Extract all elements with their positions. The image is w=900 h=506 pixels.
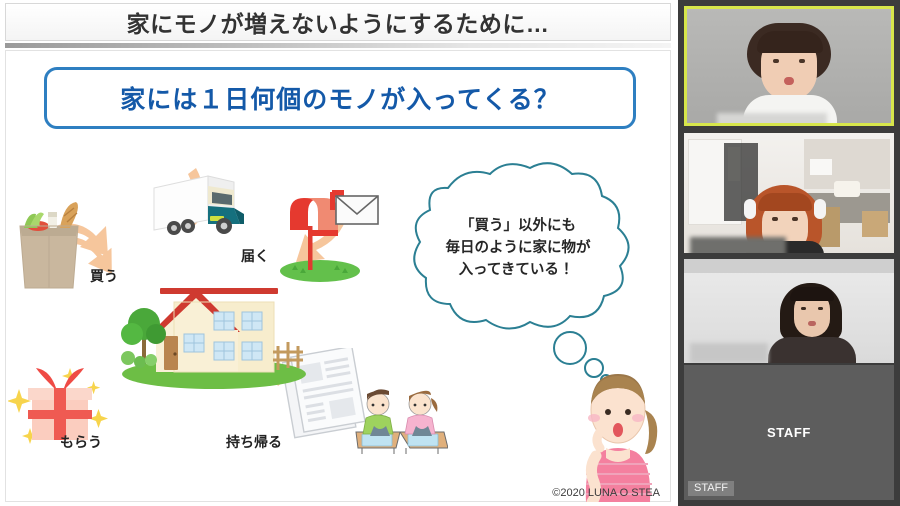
question-box: 家には１日何個のモノが入ってくる？ <box>44 67 636 129</box>
participant-tile-4-label: STAFF <box>688 481 734 496</box>
label-bring-home: 持ち帰る <box>226 432 282 452</box>
participant-tile-3[interactable] <box>684 259 894 363</box>
cloud-text-line-2: 毎日のように家に物が <box>382 237 654 259</box>
label-receive: もらう <box>60 432 102 452</box>
slide-title-text: 家にモノが増えないようにするために… <box>127 5 550 39</box>
title-divider <box>5 43 671 48</box>
participant-video-strip: STAFF STAFF <box>678 0 900 506</box>
school-kids-icon <box>352 386 448 454</box>
cloud-text-line-3: 入ってきている ！ <box>382 259 654 281</box>
shared-slide[interactable]: 家にモノが増えないようにするために… 家には１日何個のモノが入ってくる？ <box>0 0 678 506</box>
copyright-notice: ©2020 LUNA O STEA <box>0 487 668 499</box>
participant-tile-4[interactable]: STAFF STAFF <box>684 365 894 500</box>
delivery-truck-icon <box>148 168 260 248</box>
thinking-woman-icon <box>566 356 670 502</box>
meeting-screen: 家にモノが増えないようにするために… 家には１日何個のモノが入ってくる？ <box>0 0 900 506</box>
grocery-bag-icon <box>10 196 88 292</box>
house-icon <box>118 272 308 390</box>
participant-tile-2[interactable] <box>684 133 894 253</box>
cloud-text-line-1: 「買う」以外にも <box>382 215 654 237</box>
participant-tile-1[interactable] <box>684 6 894 126</box>
mailbox-icon <box>276 178 382 286</box>
label-delivered: 届く <box>241 246 269 266</box>
cloud-text: 「買う」以外にも 毎日のように家に物が 入ってきている ！ <box>382 215 654 281</box>
participant-tile-4-center-name: STAFF <box>684 425 894 440</box>
question-box-text: 家には１日何個のモノが入ってくる？ <box>120 80 560 116</box>
label-buy: 買う <box>90 266 118 286</box>
slide-title: 家にモノが増えないようにするために… <box>5 3 671 41</box>
